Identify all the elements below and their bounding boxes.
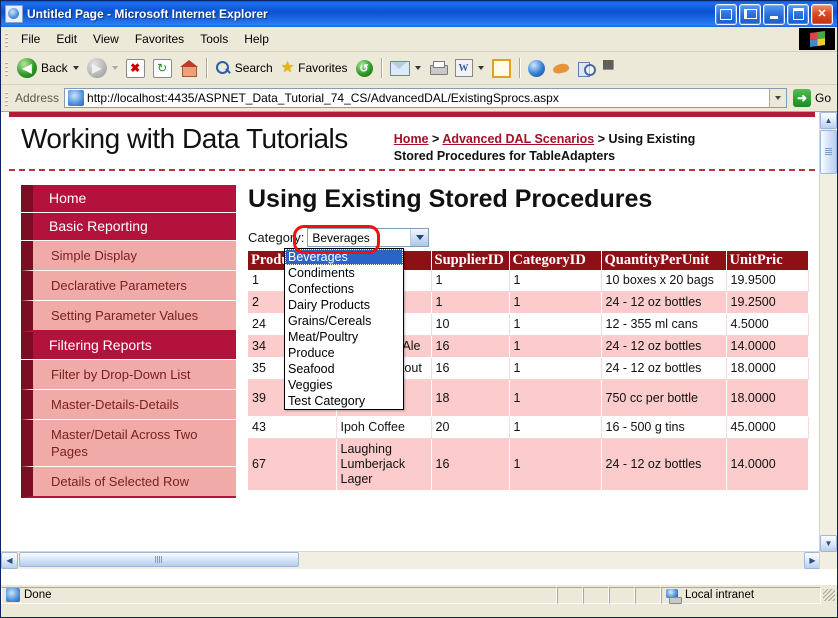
table-row[interactable]: 67 Laughing Lumberjack Lager 16 1 24 - 1… xyxy=(248,439,808,491)
cell-categoryid: 1 xyxy=(509,336,601,358)
cell-categoryid: 1 xyxy=(509,292,601,314)
cell-unitprice: 19.2500 xyxy=(726,292,808,314)
sidebar-item-details-of-selected-row[interactable]: Details of Selected Row xyxy=(21,467,236,498)
sidebar-item-declarative-parameters[interactable]: Declarative Parameters xyxy=(21,271,236,301)
category-option-meat-poultry[interactable]: Meat/Poultry xyxy=(285,329,403,345)
address-input[interactable]: http://localhost:4435/ASPNET_Data_Tutori… xyxy=(64,88,787,108)
page-status-icon xyxy=(6,588,20,602)
sidebar-item-master-detail-across-two-pages[interactable]: Master/Detail Across Two Pages xyxy=(21,420,236,467)
history-button[interactable]: ↺ xyxy=(352,55,377,81)
breadcrumb-sep-2: > xyxy=(594,132,608,146)
forward-history-chevron-down-icon xyxy=(112,66,118,70)
chevron-down-icon xyxy=(775,96,781,100)
toolbar-gripper[interactable] xyxy=(4,60,9,76)
category-option-beverages[interactable]: Beverages xyxy=(285,249,403,265)
menu-favorites[interactable]: Favorites xyxy=(127,29,192,49)
menu-bar: File Edit View Favorites Tools Help xyxy=(1,27,837,52)
breadcrumb-sep-1: > xyxy=(429,132,443,146)
web-page: Working with Data Tutorials Home > Advan… xyxy=(1,112,821,569)
sidebar-item-home[interactable]: Home xyxy=(21,185,236,212)
cell-quantityperunit: 12 - 355 ml cans xyxy=(601,314,726,336)
mail-chevron-down-icon[interactable] xyxy=(415,66,421,70)
cell-productid: 67 xyxy=(248,439,336,491)
edit-chevron-down-icon[interactable] xyxy=(478,66,484,70)
cell-supplierid: 16 xyxy=(431,439,509,491)
scroll-down-button[interactable]: ▼ xyxy=(820,535,837,552)
cell-productname: Laughing Lumberjack Lager xyxy=(336,439,431,491)
close-button[interactable]: ✕ xyxy=(811,4,833,25)
browser-toolbar: ◀ Back ▶ ✖ ↻ Search ★ Favorites ↺ xyxy=(1,52,837,85)
forward-arrow-icon: ▶ xyxy=(87,58,107,78)
toolbar-separator xyxy=(206,58,207,78)
word-editor-icon: W xyxy=(455,59,473,77)
category-options-list[interactable]: Beverages Condiments Confections Dairy P… xyxy=(284,248,404,410)
category-option-test-category[interactable]: Test Category xyxy=(285,393,403,409)
status-pane-3 xyxy=(609,587,635,604)
address-bar: Address http://localhost:4435/ASPNET_Dat… xyxy=(1,85,837,112)
address-gripper[interactable] xyxy=(4,90,9,106)
breadcrumb-home-link[interactable]: Home xyxy=(394,132,429,146)
category-option-confections[interactable]: Confections xyxy=(285,281,403,297)
title-bar: Untitled Page - Microsoft Internet Explo… xyxy=(1,1,837,27)
menu-gripper[interactable] xyxy=(4,31,9,47)
resize-grip[interactable] xyxy=(821,587,837,603)
site-title: Working with Data Tutorials xyxy=(21,123,348,155)
menu-edit[interactable]: Edit xyxy=(48,29,85,49)
cell-quantityperunit: 24 - 12 oz bottles xyxy=(601,292,726,314)
forward-button[interactable]: ▶ xyxy=(83,55,122,81)
go-button[interactable]: ➜ Go xyxy=(787,89,835,107)
chevron-down-icon xyxy=(416,235,424,240)
cell-quantityperunit: 24 - 12 oz bottles xyxy=(601,439,726,491)
category-option-veggies[interactable]: Veggies xyxy=(285,377,403,393)
page-icon xyxy=(68,90,84,106)
research-magnifier-icon xyxy=(578,60,595,77)
cell-categoryid: 1 xyxy=(509,270,601,292)
browser-window: Untitled Page - Microsoft Internet Explo… xyxy=(0,0,838,618)
category-option-condiments[interactable]: Condiments xyxy=(285,265,403,281)
category-label: Category: xyxy=(248,230,304,245)
minimize-button[interactable] xyxy=(763,4,785,25)
scroll-left-button[interactable]: ◀ xyxy=(1,552,18,569)
menu-file[interactable]: File xyxy=(13,29,48,49)
sidebar-item-master-details-details[interactable]: Master-Details-Details xyxy=(21,390,236,420)
cell-productname: Ipoh Coffee xyxy=(336,417,431,439)
cell-unitprice: 18.0000 xyxy=(726,358,808,380)
favorites-label: Favorites xyxy=(298,61,347,75)
cell-quantityperunit: 24 - 12 oz bottles xyxy=(601,336,726,358)
status-pane-2 xyxy=(583,587,609,604)
mail-icon xyxy=(390,61,410,76)
back-history-chevron-down-icon[interactable] xyxy=(73,66,79,70)
cell-quantityperunit: 24 - 12 oz bottles xyxy=(601,358,726,380)
home-button[interactable] xyxy=(176,55,202,81)
media-button[interactable]: ▦▦▦▦ xyxy=(599,55,625,81)
category-dropdown-arrow[interactable] xyxy=(410,229,428,246)
sidebar-item-basic-reporting[interactable]: Basic Reporting xyxy=(21,213,236,240)
cell-quantityperunit: 750 cc per bottle xyxy=(601,380,726,417)
menu-help[interactable]: Help xyxy=(236,29,277,49)
windows-flag-icon xyxy=(810,31,825,47)
go-label: Go xyxy=(815,91,831,105)
cell-unitprice: 4.5000 xyxy=(726,314,808,336)
scroll-grip-icon xyxy=(825,148,832,156)
category-option-seafood[interactable]: Seafood xyxy=(285,361,403,377)
sidebar-item-simple-display[interactable]: Simple Display xyxy=(21,241,236,271)
research-button[interactable] xyxy=(574,55,599,81)
refresh-icon: ↻ xyxy=(153,59,172,78)
status-message-pane: Done xyxy=(1,587,557,604)
discuss-button[interactable] xyxy=(488,55,515,81)
cell-unitprice: 14.0000 xyxy=(726,439,808,491)
stop-button[interactable]: ✖ xyxy=(122,55,149,81)
msn-globe-button[interactable] xyxy=(524,55,549,81)
back-label: Back xyxy=(41,61,68,75)
cell-productid: 43 xyxy=(248,417,336,439)
search-button[interactable]: Search xyxy=(211,55,277,81)
table-row[interactable]: 43 Ipoh Coffee 20 1 16 - 500 g tins 45.0… xyxy=(248,417,808,439)
address-dropdown-button[interactable] xyxy=(769,89,786,107)
address-url-text: http://localhost:4435/ASPNET_Data_Tutori… xyxy=(87,91,769,105)
cell-supplierid: 20 xyxy=(431,417,509,439)
cell-quantityperunit: 16 - 500 g tins xyxy=(601,417,726,439)
group-tabs-button[interactable] xyxy=(739,4,761,25)
messenger-button[interactable] xyxy=(549,55,574,81)
category-selected-value: Beverages xyxy=(308,231,410,245)
category-option-produce[interactable]: Produce xyxy=(285,345,403,361)
back-button[interactable]: ◀ Back xyxy=(13,55,83,81)
sidebar-item-setting-parameter-values[interactable]: Setting Parameter Values xyxy=(21,301,236,332)
cell-categoryid: 1 xyxy=(509,417,601,439)
address-label: Address xyxy=(13,91,64,105)
cell-categoryid: 1 xyxy=(509,314,601,336)
column-header-unitprice[interactable]: UnitPric xyxy=(726,251,808,270)
toolbar-separator-2 xyxy=(381,58,382,78)
column-header-categoryid[interactable]: CategoryID xyxy=(509,251,601,270)
cell-categoryid: 1 xyxy=(509,439,601,491)
category-option-grains-cereals[interactable]: Grains/Cereals xyxy=(285,313,403,329)
column-header-quantityperunit[interactable]: QuantityPerUnit xyxy=(601,251,726,270)
page-viewport: Working with Data Tutorials Home > Advan… xyxy=(1,112,837,584)
horizontal-scroll-thumb[interactable] xyxy=(19,552,299,567)
scroll-up-button[interactable]: ▲ xyxy=(820,112,837,129)
cell-categoryid: 1 xyxy=(509,358,601,380)
intranet-zone-icon xyxy=(666,588,681,602)
stop-icon: ✖ xyxy=(126,59,145,78)
page-title: Using Existing Stored Procedures xyxy=(248,185,821,214)
cell-supplierid: 18 xyxy=(431,380,509,417)
cell-unitprice: 18.0000 xyxy=(726,380,808,417)
status-message: Done xyxy=(24,589,52,601)
ie-brand-logo xyxy=(799,28,835,50)
toolbar-separator-3 xyxy=(519,58,520,78)
cell-supplierid: 16 xyxy=(431,336,509,358)
window-title: Untitled Page - Microsoft Internet Explo… xyxy=(27,7,268,21)
category-option-dairy-products[interactable]: Dairy Products xyxy=(285,297,403,313)
vertical-scrollbar[interactable]: ▲ ▼ xyxy=(819,112,837,569)
close-icon: ✕ xyxy=(812,5,832,24)
page-body: Home Basic Reporting Simple Display Decl… xyxy=(1,171,821,498)
security-zone-pane[interactable]: Local intranet xyxy=(661,587,821,604)
back-arrow-icon: ◀ xyxy=(17,58,37,78)
edit-button[interactable]: W xyxy=(451,55,488,81)
category-select[interactable]: Beverages xyxy=(307,228,429,247)
breadcrumb-section-link[interactable]: Advanced DAL Scenarios xyxy=(442,132,594,146)
go-arrow-icon: ➜ xyxy=(793,89,811,107)
scroll-grip-icon xyxy=(155,556,163,563)
favorites-button[interactable]: ★ Favorites xyxy=(277,55,352,81)
sidebar-nav: Home Basic Reporting Simple Display Decl… xyxy=(1,171,236,498)
history-icon: ↺ xyxy=(356,60,373,77)
status-bar: Done Local intranet xyxy=(1,584,837,605)
menu-tools[interactable]: Tools xyxy=(192,29,236,49)
vertical-scroll-thumb[interactable] xyxy=(820,130,837,174)
maximize-button[interactable] xyxy=(787,4,809,25)
breadcrumb: Home > Advanced DAL Scenarios > Using Ex… xyxy=(394,123,724,165)
cell-unitprice: 19.9500 xyxy=(726,270,808,292)
main-content: Using Existing Stored Procedures Categor… xyxy=(236,171,821,498)
msn-butterfly-icon xyxy=(553,61,570,76)
cell-quantityperunit: 10 boxes x 20 bags xyxy=(601,270,726,292)
cell-supplierid: 10 xyxy=(431,314,509,336)
menu-view[interactable]: View xyxy=(85,29,127,49)
cell-supplierid: 1 xyxy=(431,292,509,314)
page-header: Working with Data Tutorials Home > Advan… xyxy=(9,117,815,171)
status-pane-1 xyxy=(557,587,583,604)
security-zone-label: Local intranet xyxy=(685,589,754,601)
printer-icon xyxy=(429,61,447,75)
column-header-supplierid[interactable]: SupplierID xyxy=(431,251,509,270)
cell-unitprice: 14.0000 xyxy=(726,336,808,358)
ie-document-icon xyxy=(5,5,23,23)
cell-unitprice: 45.0000 xyxy=(726,417,808,439)
sidebar-item-filter-by-drop-down-list[interactable]: Filter by Drop-Down List xyxy=(21,360,236,390)
sidebar-item-filtering-reports[interactable]: Filtering Reports xyxy=(21,332,236,359)
globe-icon xyxy=(528,60,545,77)
refresh-button[interactable]: ↻ xyxy=(149,55,176,81)
cell-supplierid: 1 xyxy=(431,270,509,292)
cell-categoryid: 1 xyxy=(509,380,601,417)
star-icon: ★ xyxy=(281,60,294,76)
print-button[interactable] xyxy=(425,55,451,81)
search-icon xyxy=(215,60,231,76)
note-icon xyxy=(492,59,511,78)
status-pane-4 xyxy=(635,587,661,604)
window-controls: ✕ xyxy=(715,4,835,25)
category-filter-row: Category: Beverages Beverages Condiments… xyxy=(248,228,821,247)
mail-button[interactable] xyxy=(386,55,425,81)
restore-left-right-button[interactable] xyxy=(715,4,737,25)
home-icon xyxy=(180,60,198,76)
media-player-icon: ▦▦▦▦ xyxy=(603,60,621,77)
search-label: Search xyxy=(235,61,273,75)
cell-supplierid: 16 xyxy=(431,358,509,380)
horizontal-scrollbar[interactable]: ◀ ▶ xyxy=(1,551,821,569)
